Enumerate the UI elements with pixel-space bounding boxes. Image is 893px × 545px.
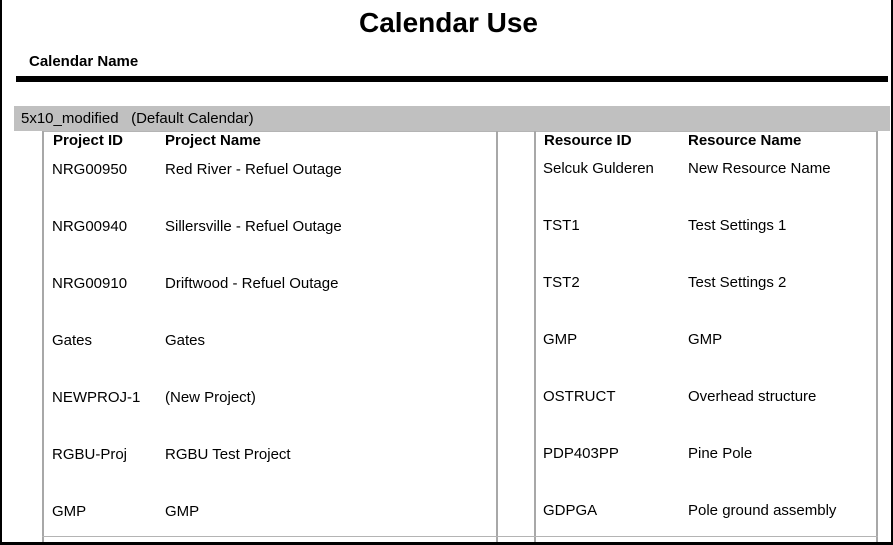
table-row[interactable]: Selcuk Gulderen New Resource Name <box>536 159 884 216</box>
projects-table: Project ID Project Name NRG00950 Red Riv… <box>44 131 505 545</box>
calendar-group-label: 5x10_modified (Default Calendar) <box>21 109 254 128</box>
project-id: Gates <box>44 331 165 388</box>
resource-id: Selcuk Gulderen <box>536 159 688 216</box>
table-row[interactable]: GDPGA Pole ground assembly <box>536 501 884 545</box>
projects-header-name: Project Name <box>165 131 505 160</box>
table-row[interactable]: TST1 Test Settings 1 <box>536 216 884 273</box>
project-name: (New Project) <box>165 388 505 445</box>
report-page: Calendar Use Calendar Name 5x10_modified… <box>0 0 893 545</box>
project-name: Driftwood - Refuel Outage <box>165 274 505 331</box>
resource-name: Pole ground assembly <box>688 501 884 545</box>
page-title: Calendar Use <box>2 6 893 40</box>
resource-id: PDP403PP <box>536 444 688 501</box>
table-row[interactable]: OSTRUCT Overhead structure <box>536 387 884 444</box>
resource-id: OSTRUCT <box>536 387 688 444</box>
resource-name: Test Settings 1 <box>688 216 884 273</box>
table-row[interactable]: NRG00910 Driftwood - Refuel Outage <box>44 274 505 331</box>
project-name: Gates <box>165 331 505 388</box>
project-id: RGBU-Proj <box>44 445 165 502</box>
project-name: RGBU Test Project <box>165 445 505 502</box>
projects-panel: Project ID Project Name NRG00950 Red Riv… <box>44 131 496 545</box>
project-name: Red River - Refuel Outage <box>165 160 505 217</box>
project-name: GMP <box>165 502 505 545</box>
resource-name: Pine Pole <box>688 444 884 501</box>
table-row[interactable]: TST2 Test Settings 2 <box>536 273 884 330</box>
table-row[interactable]: GMP GMP <box>536 330 884 387</box>
table-row[interactable]: RGBU-Proj RGBU Test Project <box>44 445 505 502</box>
project-id: GMP <box>44 502 165 545</box>
resource-name: GMP <box>688 330 884 387</box>
table-row[interactable]: NEWPROJ-1 (New Project) <box>44 388 505 445</box>
resource-name: Test Settings 2 <box>688 273 884 330</box>
resource-name: Overhead structure <box>688 387 884 444</box>
projects-header-row: Project ID Project Name <box>44 131 505 160</box>
resources-header-name: Resource Name <box>688 131 884 159</box>
project-id: NRG00940 <box>44 217 165 274</box>
project-id: NEWPROJ-1 <box>44 388 165 445</box>
calendar-name-column-label: Calendar Name <box>29 52 138 72</box>
header-divider-rule <box>16 76 888 82</box>
project-id: NRG00910 <box>44 274 165 331</box>
resource-id: GMP <box>536 330 688 387</box>
resources-table-body: Selcuk Gulderen New Resource Name TST1 T… <box>536 159 884 545</box>
resources-header-id: Resource ID <box>536 131 688 159</box>
resource-id: GDPGA <box>536 501 688 545</box>
project-name: Sillersville - Refuel Outage <box>165 217 505 274</box>
resource-name: New Resource Name <box>688 159 884 216</box>
table-row[interactable]: PDP403PP Pine Pole <box>536 444 884 501</box>
table-row[interactable]: Gates Gates <box>44 331 505 388</box>
resources-panel: Resource ID Resource Name Selcuk Guldere… <box>536 131 876 545</box>
project-id: NRG00950 <box>44 160 165 217</box>
resources-table: Resource ID Resource Name Selcuk Guldere… <box>536 131 884 545</box>
resource-id: TST1 <box>536 216 688 273</box>
table-row[interactable]: GMP GMP <box>44 502 505 545</box>
projects-table-body: NRG00950 Red River - Refuel Outage NRG00… <box>44 160 505 545</box>
table-row[interactable]: NRG00940 Sillersville - Refuel Outage <box>44 217 505 274</box>
projects-header-id: Project ID <box>44 131 165 160</box>
resources-header-row: Resource ID Resource Name <box>536 131 884 159</box>
resource-id: TST2 <box>536 273 688 330</box>
table-row[interactable]: NRG00950 Red River - Refuel Outage <box>44 160 505 217</box>
